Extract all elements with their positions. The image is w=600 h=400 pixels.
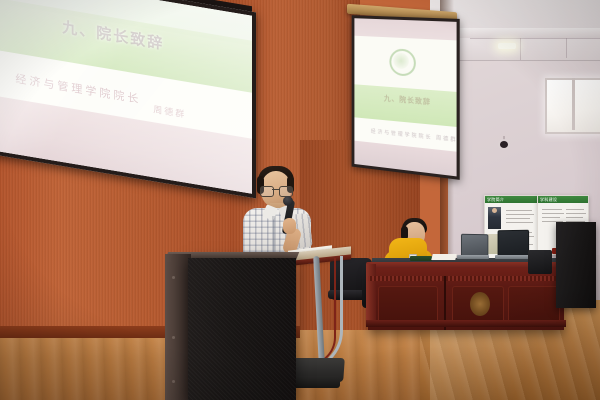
ceiling-grid-line [470, 38, 600, 39]
eyeglass-lens-left [260, 186, 274, 197]
eyeglasses-icon [260, 186, 292, 195]
lectern-base-plate [292, 376, 340, 388]
pa-speaker-cabinet [188, 258, 296, 400]
desk-front-panel-1 [378, 286, 438, 324]
desk-decorative-trim [368, 276, 564, 281]
lecture-hall-photo: 学院简介 学科建设 [0, 0, 600, 400]
pa-cabinet-screw [172, 336, 175, 339]
laptop-1-base[interactable] [457, 255, 489, 259]
desk-base-molding [366, 320, 566, 327]
laptop-2-base[interactable] [495, 255, 529, 259]
pa-speaker-right [556, 222, 596, 308]
poster-portrait-head [492, 208, 497, 213]
desk-papers [431, 254, 456, 260]
university-seal-logo-inner [393, 52, 409, 69]
security-camera-icon [500, 141, 508, 148]
ceiling-beam [448, 28, 600, 38]
desk-circular-emblem [470, 292, 490, 316]
small-monitor [528, 250, 552, 274]
eyeglass-bridge [272, 189, 279, 190]
ceiling-grid-line [520, 38, 521, 60]
ceiling-tile-grid [452, 38, 600, 61]
poster-heading-label: 学院简介 [487, 197, 504, 203]
speaker-hand [283, 218, 296, 234]
secondary-projection-screen: 九、院长致辞 经济与管理学院院长 周德群 [352, 15, 460, 180]
poster-heading-label: 学科建设 [540, 197, 557, 203]
window-mullion [572, 78, 575, 130]
recessed-ceiling-light-icon [498, 43, 516, 49]
desk-left-end-panel [366, 264, 376, 326]
desk-front-panel-3 [508, 286, 560, 324]
desk-keyboard [410, 256, 432, 261]
laptop-2-screen[interactable] [498, 230, 530, 259]
pa-cabinet-screw [172, 276, 175, 279]
ceiling-grid-line [566, 38, 567, 58]
pa-cabinet-screw [172, 380, 175, 383]
